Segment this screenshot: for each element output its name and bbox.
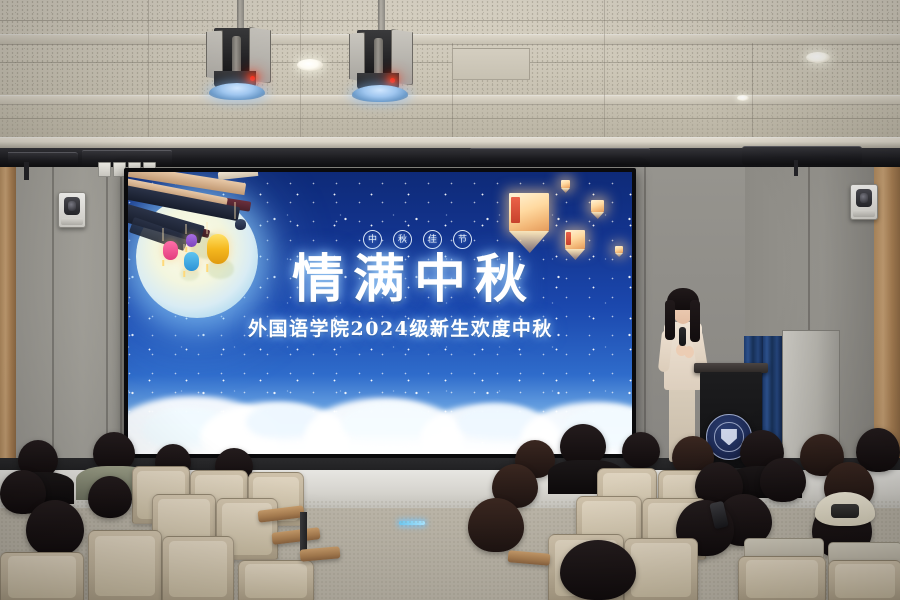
slide-subtitle: 外国语学院2024级新生欢度中秋 <box>248 317 553 341</box>
ceiling <box>0 0 900 150</box>
auditorium-scene: 中 秋 佳 节 情满中秋 外国语学院2024级新生欢度中秋 <box>0 0 900 600</box>
ceiling-downlight <box>297 59 323 71</box>
ceiling-vent <box>452 48 530 80</box>
seat[interactable] <box>738 556 826 600</box>
slide-title: 情满中秋 <box>292 251 536 309</box>
seat[interactable] <box>238 560 314 600</box>
led-screen: 中 秋 佳 节 情满中秋 外国语学院2024级新生欢度中秋 <box>128 172 632 454</box>
audience-head <box>88 476 132 518</box>
festival-badge: 佳 <box>423 230 442 249</box>
cloud-graphic <box>128 358 632 454</box>
microphone <box>679 327 686 346</box>
projector-lens-glow <box>209 83 265 100</box>
crest-shield-icon <box>721 429 737 446</box>
festival-badge: 节 <box>453 230 472 249</box>
festival-badge: 秋 <box>393 230 412 249</box>
speaker-cone-icon <box>64 197 80 215</box>
festival-badge: 中 <box>363 230 382 249</box>
festival-badge-row: 中 秋 佳 节 <box>363 230 472 249</box>
cap-clasp-icon <box>831 504 860 518</box>
ceiling-downlight <box>806 52 830 63</box>
seat[interactable] <box>162 536 234 600</box>
wall-wood-trim-left <box>0 150 16 480</box>
audience-head <box>622 432 660 468</box>
seat[interactable] <box>0 552 84 600</box>
audience-head <box>560 540 636 600</box>
wall-speaker-right <box>850 184 878 220</box>
wall-speaker-left <box>58 192 86 228</box>
audience-head <box>26 500 84 556</box>
audience-head <box>760 458 806 502</box>
projector-lens-glow <box>352 85 408 102</box>
seat[interactable] <box>88 530 162 600</box>
seat[interactable] <box>828 560 900 600</box>
projector-indicator-led <box>250 76 255 81</box>
speaker-cone-icon <box>856 189 872 207</box>
audience-head <box>468 498 524 552</box>
projector-indicator-led <box>390 78 395 83</box>
ceiling-downlight <box>737 95 749 101</box>
temple-roof-graphic <box>128 172 284 252</box>
